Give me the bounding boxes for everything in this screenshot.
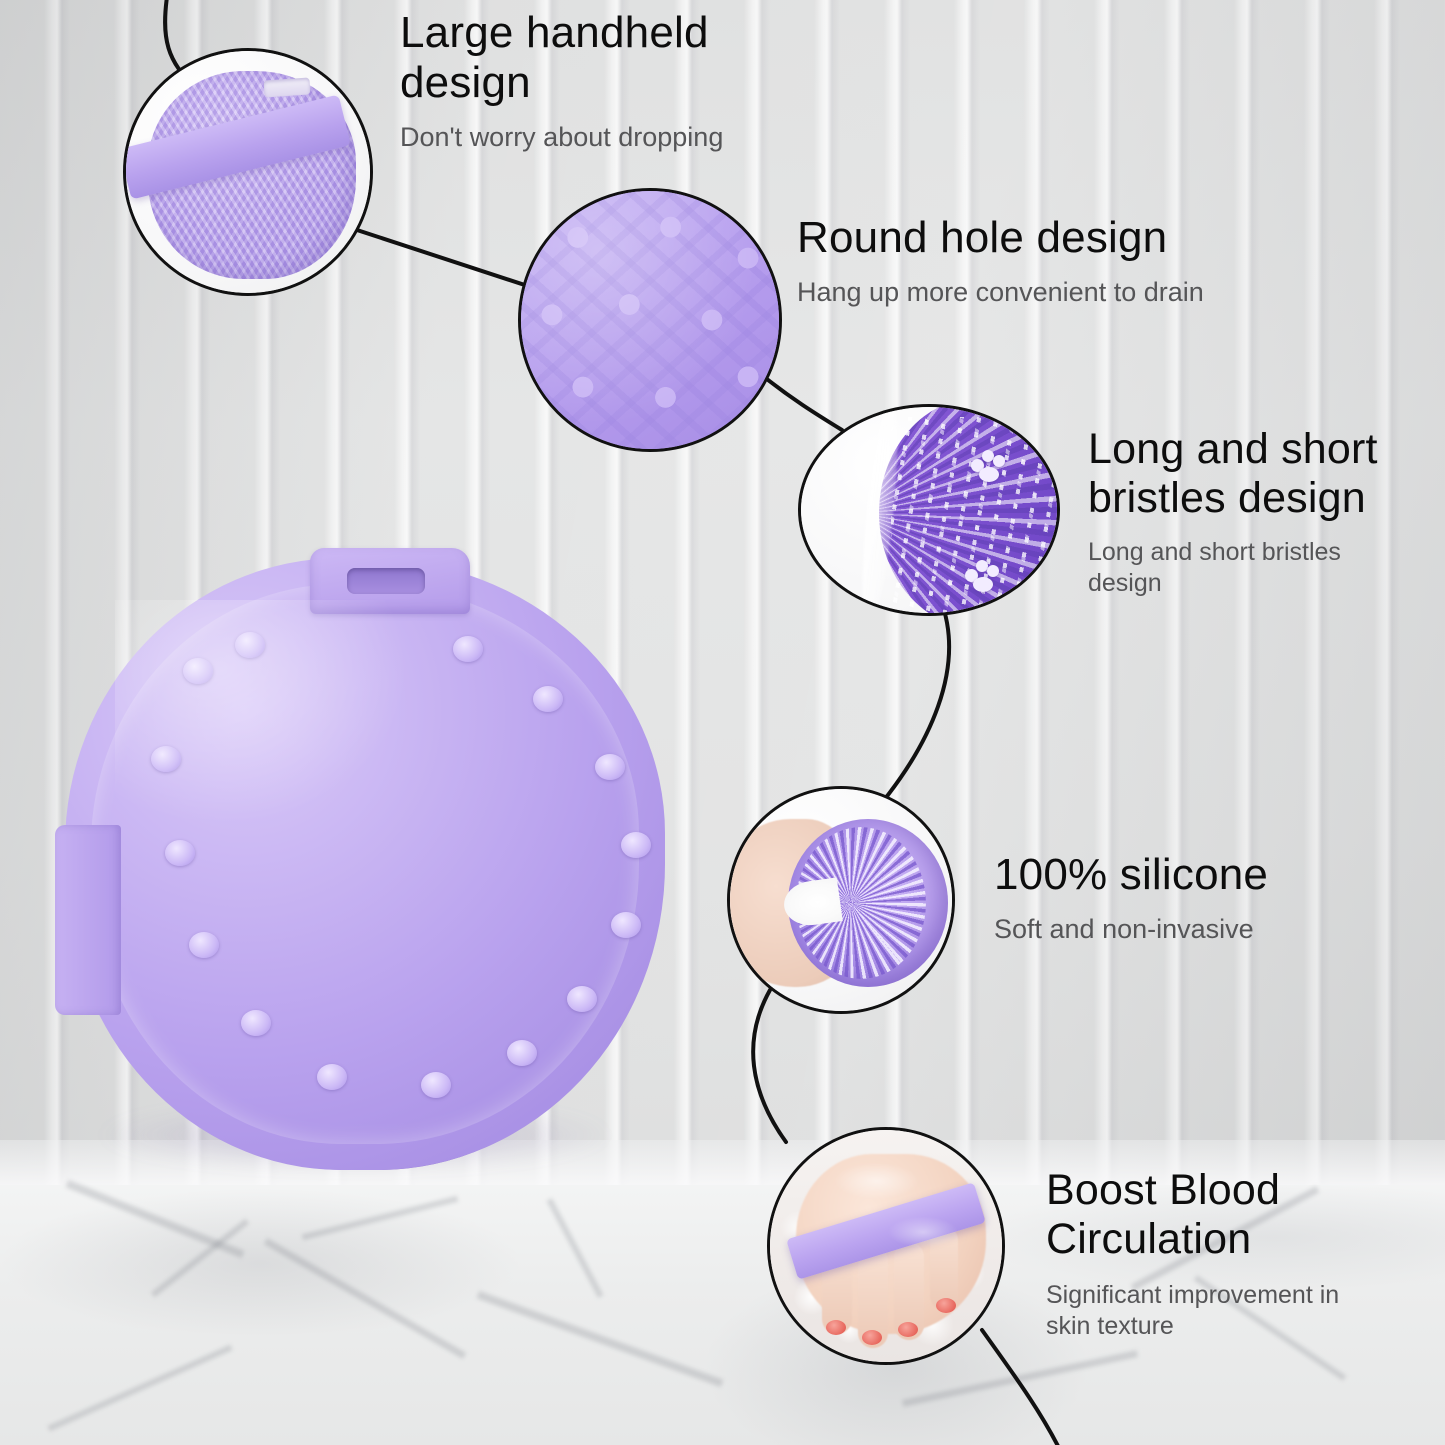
feature-text-100-percent-silicone: 100% silicone Soft and non-invasive	[994, 850, 1374, 946]
feature-subtitle: Soft and non-invasive	[994, 913, 1374, 946]
feature-image-boost-blood-circulation	[767, 1127, 1005, 1365]
feature-image-large-handheld-design	[123, 48, 373, 296]
feature-text-boost-blood-circulation: Boost Blood Circulation Significant impr…	[1046, 1166, 1406, 1341]
feature-subtitle: Long and short bristles design	[1088, 537, 1418, 598]
bristle-nub	[567, 986, 597, 1012]
main-product-image	[55, 540, 695, 1200]
product-hanging-hole	[347, 568, 425, 594]
feature-text-large-handheld-design: Large handheld design Don't worry about …	[400, 8, 880, 154]
feature-image-100-percent-silicone	[727, 786, 955, 1014]
bristle-nub	[183, 658, 213, 684]
texture-gloss	[521, 191, 779, 449]
feature-text-long-and-short-bristles-design: Long and short bristles design Long and …	[1088, 425, 1418, 598]
brush-hanging-hole	[263, 77, 310, 97]
bristle-nub	[533, 686, 563, 712]
bristle-nub	[241, 1010, 271, 1036]
product-hand-strap	[55, 825, 121, 1015]
feature-title: 100% silicone	[994, 850, 1374, 900]
bristle-nub	[507, 1040, 537, 1066]
feature-title: Boost Blood Circulation	[1046, 1166, 1406, 1264]
bristle-nub	[189, 932, 219, 958]
bristle-nub	[621, 832, 651, 858]
product-rim	[65, 558, 665, 1170]
fingernail	[936, 1298, 956, 1313]
bristle-nub	[595, 754, 625, 780]
bristle-nub	[165, 840, 195, 866]
feature-subtitle: Don't worry about dropping	[400, 121, 880, 154]
feature-subtitle: Hang up more convenient to drain	[797, 276, 1267, 309]
paw-nub-icon	[967, 447, 1007, 481]
fingernail	[862, 1330, 882, 1345]
feature-title: Large handheld design	[400, 8, 880, 108]
bristle-nub	[611, 912, 641, 938]
infographic-stage: Large handheld design Don't worry about …	[0, 0, 1445, 1445]
paw-nub-icon	[961, 557, 1001, 591]
feature-subtitle: Significant improvement in skin texture	[1046, 1280, 1406, 1341]
feature-title: Long and short bristles design	[1088, 425, 1418, 523]
feature-text-round-hole-design: Round hole design Hang up more convenien…	[797, 213, 1267, 309]
bristle-nub	[317, 1064, 347, 1090]
bristle-nub	[453, 636, 483, 662]
fingernail	[826, 1320, 846, 1335]
bristle-nub	[235, 632, 265, 658]
fingernail	[898, 1322, 918, 1337]
feature-image-long-and-short-bristles-design	[798, 404, 1060, 616]
bristle-nub	[421, 1072, 451, 1098]
bristle-nub	[151, 746, 181, 772]
feature-title: Round hole design	[797, 213, 1267, 263]
feature-image-round-hole-design	[518, 188, 782, 452]
